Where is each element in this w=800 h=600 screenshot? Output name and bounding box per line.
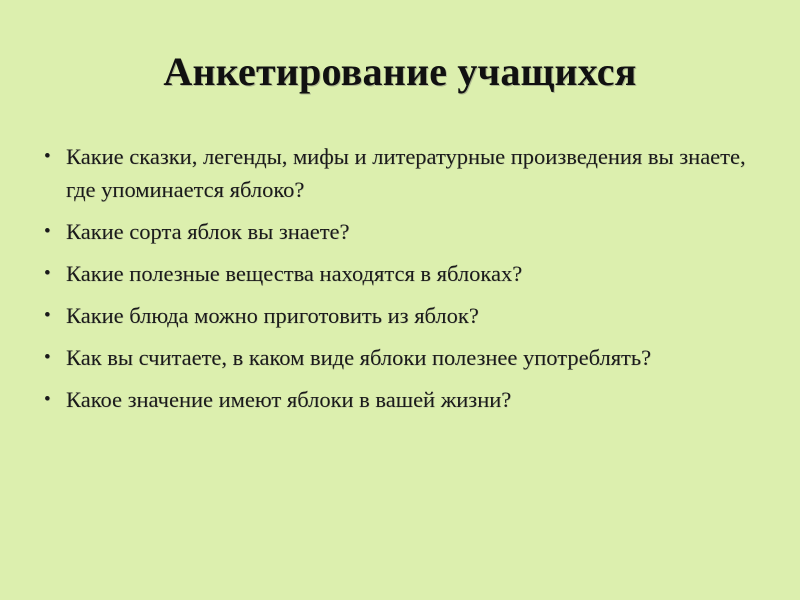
list-item: • Какие блюда можно приготовить из яблок… [40,299,770,332]
bullet-icon: • [44,140,60,173]
list-item: • Как вы считаете, в каком виде яблоки п… [40,341,770,374]
list-item-label: Какое значение имеют яблоки в вашей жизн… [66,383,770,416]
bullet-icon: • [44,257,60,290]
list-item-label: Какие полезные вещества находятся в ябло… [66,257,770,290]
list-item-label: Какие сказки, легенды, мифы и литературн… [66,140,770,206]
list-item: • Какие сорта яблок вы знаете? [40,215,770,248]
questionnaire-list: • Какие сказки, легенды, мифы и литерату… [40,140,770,416]
bullet-icon: • [44,383,60,416]
page-title: Анкетирование учащихся [0,48,800,96]
presentation-slide: Анкетирование учащихся • Какие сказки, л… [0,0,800,600]
list-item: • Какие сказки, легенды, мифы и литерату… [40,140,770,206]
list-item-label: Какие сорта яблок вы знаете? [66,215,770,248]
list-item-label: Как вы считаете, в каком виде яблоки пол… [66,341,770,374]
list-item: • Какие полезные вещества находятся в яб… [40,257,770,290]
list-item-label: Какие блюда можно приготовить из яблок? [66,299,770,332]
bullet-icon: • [44,341,60,374]
bullet-icon: • [44,299,60,332]
bullet-icon: • [44,215,60,248]
list-item: • Какое значение имеют яблоки в вашей жи… [40,383,770,416]
